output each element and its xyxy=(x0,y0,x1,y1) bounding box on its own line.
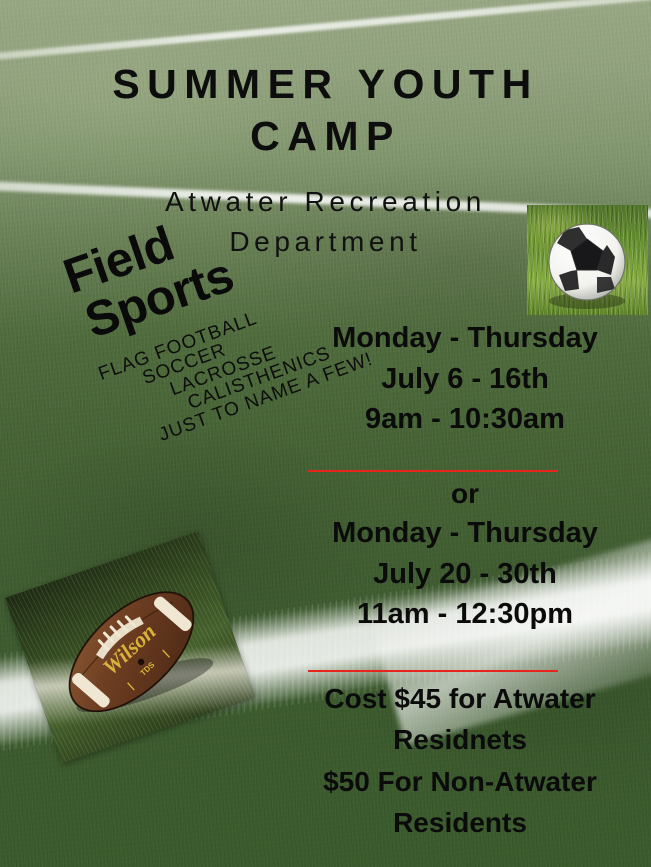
session-1-dates: July 6 - 16th xyxy=(278,359,651,400)
session-1: Monday - Thursday July 6 - 16th 9am - 10… xyxy=(278,318,651,440)
divider-rule-bottom xyxy=(308,670,558,672)
soccer-ball-photo xyxy=(527,205,648,315)
summer-youth-camp-flyer: SUMMER YOUTH CAMP Atwater Recreation Dep… xyxy=(0,0,651,867)
title-line-2: CAMP xyxy=(0,110,651,162)
schedule-block: Monday - Thursday July 6 - 16th 9am - 10… xyxy=(278,318,651,635)
cost-block: Cost $45 for Atwater Residnets $50 For N… xyxy=(268,678,651,844)
session-1-days: Monday - Thursday xyxy=(278,318,651,359)
session-2-dates: July 20 - 30th xyxy=(278,554,651,595)
session-1-times: 9am - 10:30am xyxy=(278,399,651,440)
soccer-ball-icon xyxy=(527,205,648,315)
page-title: SUMMER YOUTH CAMP xyxy=(0,58,651,163)
cost-line-3: $50 For Non-Atwater xyxy=(268,761,651,802)
session-2-times: 11am - 12:30pm xyxy=(278,594,651,635)
schedule-separator: or xyxy=(278,474,651,513)
title-line-1: SUMMER YOUTH xyxy=(0,58,651,110)
cost-line-4: Residents xyxy=(268,802,651,843)
cost-line-2: Residnets xyxy=(268,719,651,760)
cost-line-1: Cost $45 for Atwater xyxy=(268,678,651,719)
session-2: Monday - Thursday July 20 - 30th 11am - … xyxy=(278,513,651,635)
divider-rule-top xyxy=(308,470,558,472)
session-2-days: Monday - Thursday xyxy=(278,513,651,554)
